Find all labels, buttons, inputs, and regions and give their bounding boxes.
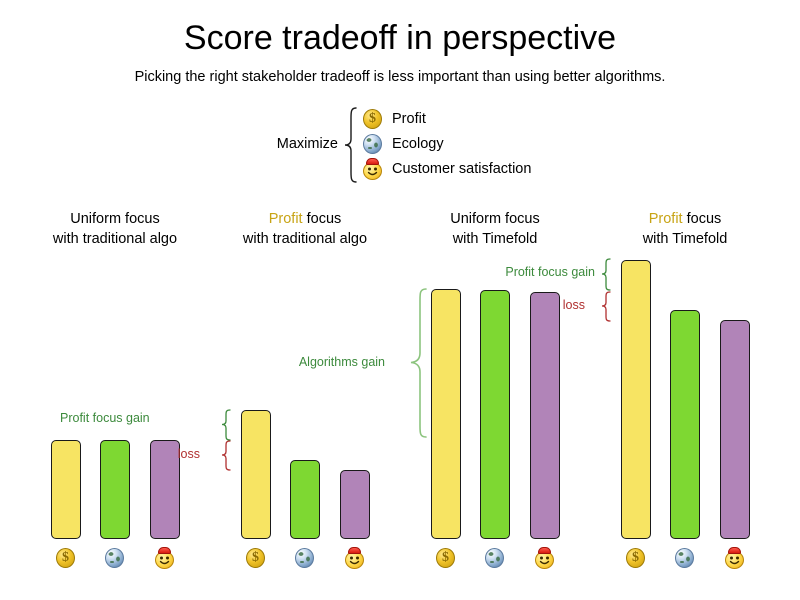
column-header-uniform-timefold: Uniform focus with Timefold: [400, 209, 590, 249]
bar-g4-profit[interactable]: [621, 260, 651, 539]
column-header-uniform-traditional: Uniform focus with traditional algo: [20, 209, 210, 249]
chart-canvas: Score tradeoff in perspective Picking th…: [0, 0, 800, 600]
column-header-focus-suffix: focus: [121, 211, 160, 227]
coin-icon: [362, 108, 383, 130]
column-header-algo: with traditional algo: [20, 229, 210, 249]
page-subtitle: Picking the right stakeholder tradeoff i…: [0, 68, 800, 86]
globe-icon: [362, 133, 383, 155]
legend-brace-icon: [342, 106, 358, 184]
coin-icon: [625, 547, 646, 569]
column-header-algo: with Timefold: [590, 229, 780, 249]
smiley-icon: [724, 547, 745, 569]
annotation-loss-left: loss: [150, 447, 200, 461]
brace-loss-right-icon: [596, 291, 612, 322]
globe-icon: [674, 547, 695, 569]
column-header-focus: Profit: [269, 211, 303, 227]
column-header-algo: with traditional algo: [210, 229, 400, 249]
annotation-algorithms-gain: Algorithms gain: [250, 355, 385, 369]
legend-item-ecology: Ecology: [362, 132, 444, 156]
bar-g1-ecology[interactable]: [100, 440, 130, 539]
legend: Maximize Profit Ecology Customer satisfa…: [258, 106, 558, 184]
globe-icon: [484, 547, 505, 569]
coin-icon: [245, 547, 266, 569]
globe-icon: [294, 547, 315, 569]
bar-g1-profit[interactable]: [51, 440, 81, 539]
brace-algorithms-gain-icon: [405, 287, 429, 439]
bar-g2-ecology[interactable]: [290, 460, 320, 539]
column-header-focus-suffix: focus: [683, 211, 722, 227]
column-header-profit-traditional: Profit focus with traditional algo: [210, 209, 400, 249]
brace-loss-left-icon: [216, 440, 232, 471]
bar-g3-profit[interactable]: [431, 289, 461, 539]
brace-profit-focus-gain-right-icon: [596, 258, 612, 291]
legend-title: Maximize: [258, 136, 338, 152]
legend-item-customer-satisfaction: Customer satisfaction: [362, 157, 531, 181]
column-header-profit-timefold: Profit focus with Timefold: [590, 209, 780, 249]
legend-item-label: Profit: [392, 111, 426, 127]
column-header-focus-suffix: focus: [303, 211, 342, 227]
coin-icon: [435, 547, 456, 569]
bar-g3-ecology[interactable]: [480, 290, 510, 539]
smiley-icon: [534, 547, 555, 569]
bar-g4-customer[interactable]: [720, 320, 750, 539]
smiley-icon: [362, 158, 383, 180]
bar-g4-ecology[interactable]: [670, 310, 700, 539]
coin-icon: [55, 547, 76, 569]
smiley-icon: [344, 547, 365, 569]
legend-item-label: Ecology: [392, 136, 444, 152]
annotation-profit-focus-gain-right: Profit focus gain: [440, 265, 595, 279]
bar-g3-customer[interactable]: [530, 292, 560, 539]
smiley-icon: [154, 547, 175, 569]
legend-item-label: Customer satisfaction: [392, 161, 531, 177]
column-header-focus-suffix: focus: [501, 211, 540, 227]
column-header-focus: Uniform: [70, 211, 121, 227]
bar-g2-customer[interactable]: [340, 470, 370, 539]
page-title: Score tradeoff in perspective: [0, 18, 800, 58]
legend-item-profit: Profit: [362, 107, 426, 131]
column-header-focus: Profit: [649, 211, 683, 227]
column-header-focus: Uniform: [450, 211, 501, 227]
column-header-algo: with Timefold: [400, 229, 590, 249]
annotation-profit-focus-gain-left: Profit focus gain: [60, 411, 110, 425]
brace-profit-focus-gain-left-icon: [216, 409, 232, 441]
bar-g2-profit[interactable]: [241, 410, 271, 539]
globe-icon: [104, 547, 125, 569]
annotation-loss-right: loss: [530, 298, 585, 312]
